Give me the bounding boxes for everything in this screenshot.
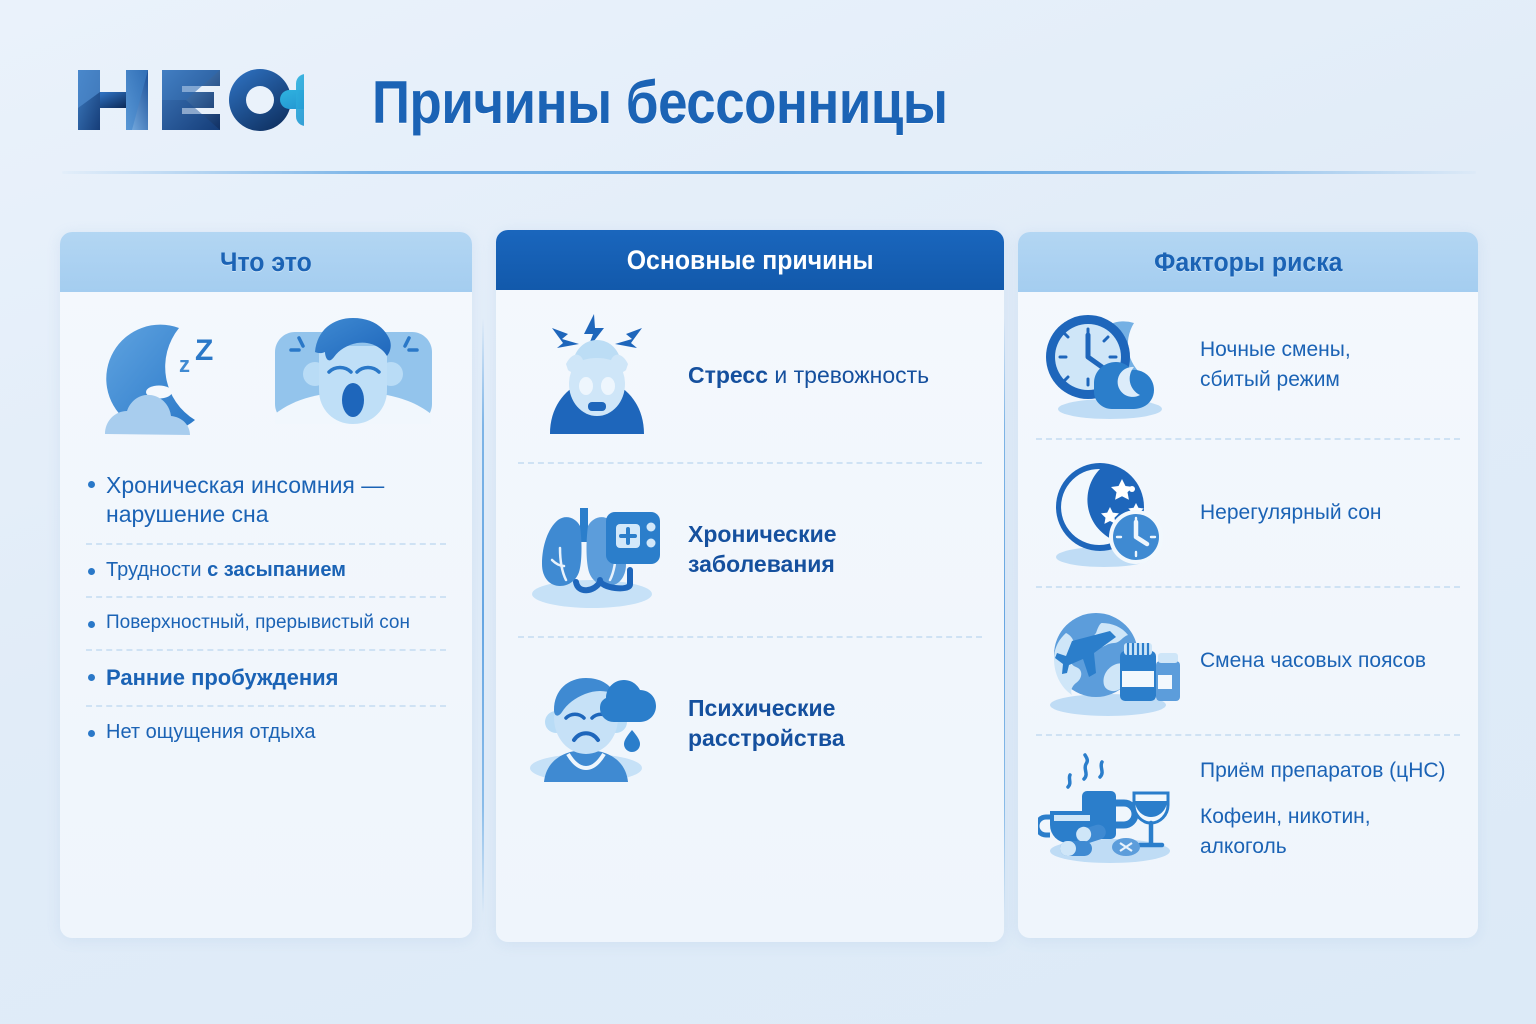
list-item-label: Психические расстройства: [688, 694, 978, 754]
coffee-wine-pills-icon: [1038, 753, 1188, 865]
card-main-causes-title: Основные причины: [627, 245, 874, 276]
risk-factors-list: Ночные смены,сбитый режим: [1018, 292, 1478, 882]
icon-container: [1038, 753, 1188, 865]
neo-plus-logo-icon: [74, 62, 304, 138]
list-item[interactable]: Смена часовых поясов: [1036, 586, 1460, 734]
list-item[interactable]: Трудности с засыпанием: [86, 543, 446, 597]
bullet-dot-icon: [88, 481, 95, 488]
what-is-bullet-list: Хроническая инсомния — нарушение сна Тру…: [60, 452, 472, 759]
moon-zzz-icon: Z z: [87, 306, 255, 446]
list-item-label: Хроническая инсомния — нарушение сна: [106, 471, 444, 530]
globe-plane-pills-icon: [1038, 605, 1188, 717]
lungs-monitor-icon: [522, 486, 672, 614]
icon-container: [1038, 457, 1188, 569]
card-what-is-header: Что это: [60, 232, 472, 292]
list-item-label: Трудности с засыпанием: [106, 558, 346, 584]
sleep-hero-illustration: Z z: [60, 292, 472, 452]
moon-stars-clock-icon: [1038, 457, 1188, 569]
card-main-causes: Основные причины: [496, 230, 1004, 942]
list-item-label: Приём препаратов (цНС)Кофеин, никотин, а…: [1200, 756, 1458, 861]
bullet-dot-icon: [88, 621, 95, 628]
clock-moon-icon: [1038, 309, 1188, 421]
card-risk-factors-header: Факторы риска: [1018, 232, 1478, 292]
list-item-label: Поверхностный, прерывистый сон: [106, 611, 410, 635]
card-what-is-body: Z z: [60, 292, 472, 759]
list-item-label: Нерегулярный сон: [1200, 498, 1381, 528]
icon-container: [1038, 309, 1188, 421]
list-item-label: Ранние пробуждения: [106, 664, 338, 692]
list-item-label: Нет ощущения отдыха: [106, 720, 316, 746]
list-item[interactable]: Ранние пробуждения: [86, 649, 446, 705]
header-divider: [62, 171, 1476, 174]
list-item-label: Стресс и тревожность: [688, 361, 929, 391]
page-title: Причины бессонницы: [372, 52, 1041, 152]
list-item[interactable]: Ночные смены,сбитый режим: [1036, 292, 1460, 438]
list-item[interactable]: Хронические заболевания: [518, 462, 982, 636]
brand-logo[interactable]: [74, 62, 304, 138]
icon-container: [522, 312, 672, 440]
card-main-causes-header: Основные причины: [496, 230, 1004, 290]
card-risk-factors: Факторы риска: [1018, 232, 1478, 938]
icon-container: [522, 486, 672, 614]
main-causes-list: Стресс и тревожность: [496, 290, 1004, 810]
list-item[interactable]: Хроническая инсомния — нарушение сна: [86, 458, 446, 543]
list-item[interactable]: Нерегулярный сон: [1036, 438, 1460, 586]
icon-container: [522, 660, 672, 788]
list-item-label: Хронические заболевания: [688, 520, 978, 580]
svg-text:Z: Z: [195, 334, 213, 367]
card-main-causes-body: Стресс и тревожность: [496, 290, 1004, 810]
list-item[interactable]: Стресс и тревожность: [518, 290, 982, 462]
sad-face-raincloud-icon: [522, 660, 672, 788]
list-item[interactable]: Приём препаратов (цНС)Кофеин, никотин, а…: [1036, 734, 1460, 882]
page-header: Причины бессонницы: [0, 0, 1536, 178]
card-what-is: Что это Z z: [60, 232, 472, 938]
card-risk-factors-body: Ночные смены,сбитый режим: [1018, 292, 1478, 882]
list-item[interactable]: Нет ощущения отдыха: [86, 705, 446, 759]
bullet-dot-icon: [88, 568, 95, 575]
stressed-head-icon: [522, 312, 672, 440]
yawning-person-icon: [261, 306, 446, 446]
icon-container: [1038, 605, 1188, 717]
list-item[interactable]: Психические расстройства: [518, 636, 982, 810]
list-item-label: Ночные смены,сбитый режим: [1200, 335, 1351, 395]
bullet-dot-icon: [88, 730, 95, 737]
bullet-dot-icon: [88, 674, 95, 681]
list-item[interactable]: Поверхностный, прерывистый сон: [86, 596, 446, 648]
column-separator-left: [482, 318, 484, 914]
card-risk-factors-title: Факторы риска: [1154, 247, 1342, 278]
card-what-is-title: Что это: [220, 247, 312, 278]
svg-text:z: z: [179, 352, 190, 377]
list-item-label: Смена часовых поясов: [1200, 646, 1426, 676]
